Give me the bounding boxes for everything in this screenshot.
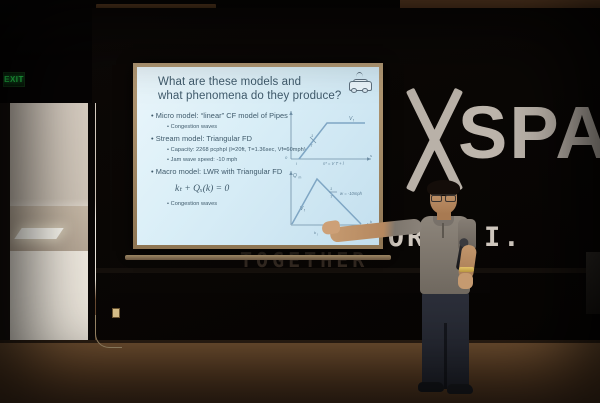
- svg-text:0: 0: [285, 155, 288, 160]
- shirt-placket: [442, 223, 444, 238]
- svg-text:Q: Q: [293, 173, 297, 179]
- slide-bullet: • Micro model: “linear” CF model of Pipe…: [151, 112, 288, 120]
- svg-text:s: s: [370, 153, 372, 158]
- ceiling-light-panel: [14, 228, 63, 239]
- exit-sign: EXIT: [3, 72, 25, 87]
- slide-bullet: • Macro model: LWR with Triangular FD: [151, 168, 282, 176]
- presenter-shoe: [418, 382, 444, 392]
- slide-title: What are these models and what phenomena…: [158, 76, 358, 103]
- right-edge-furniture: [586, 252, 600, 314]
- projection-screen: What are these models and what phenomena…: [133, 63, 383, 249]
- slide-bullet: • Congestion waves: [167, 124, 217, 130]
- wristwatch: [459, 267, 474, 272]
- svg-text:f: f: [353, 119, 354, 123]
- trouser-seam: [444, 323, 447, 389]
- adjacent-room: [0, 103, 96, 355]
- screen-roller-bar: [125, 255, 391, 260]
- svg-text:T: T: [310, 143, 313, 148]
- svg-text:1: 1: [330, 186, 332, 191]
- slide-title-line2: what phenomena do they produce?: [158, 90, 358, 104]
- slide-bullet: • Jam wave speed: -10 mph: [167, 157, 237, 163]
- svg-text:j: j: [316, 232, 318, 236]
- svg-text:1: 1: [311, 133, 313, 138]
- presentation-slide: What are these models and what phenomena…: [137, 67, 379, 245]
- slide-bullet: • Congestion waves: [167, 201, 217, 207]
- speed-spacing-diagram: V f 1 T l s* = V T + l s 0: [283, 107, 375, 165]
- main-floor: [0, 340, 600, 403]
- svg-text:w = -10mph: w = -10mph: [340, 191, 363, 196]
- slide-bullet: • Stream model: Triangular FD: [151, 135, 252, 143]
- slide-equation: kₜ + Qₓ(k) = 0: [175, 183, 229, 194]
- brand-wall-text: SPAC: [458, 96, 600, 170]
- slide-title-line1: What are these models and: [158, 76, 358, 90]
- svg-text:m: m: [299, 176, 302, 180]
- left-wall-edge: [0, 103, 10, 355]
- svg-text:f: f: [304, 209, 305, 213]
- presenter-hand: [458, 273, 473, 289]
- door-jamb: [88, 103, 95, 355]
- power-cord: [95, 315, 122, 348]
- presenter-shoe: [447, 384, 473, 394]
- presentation-photo-scene: EXIT SPAC TOGETHER E FOR A.I. What are t…: [0, 0, 600, 403]
- eyeglasses-icon: [431, 194, 456, 200]
- presenter: [398, 183, 494, 403]
